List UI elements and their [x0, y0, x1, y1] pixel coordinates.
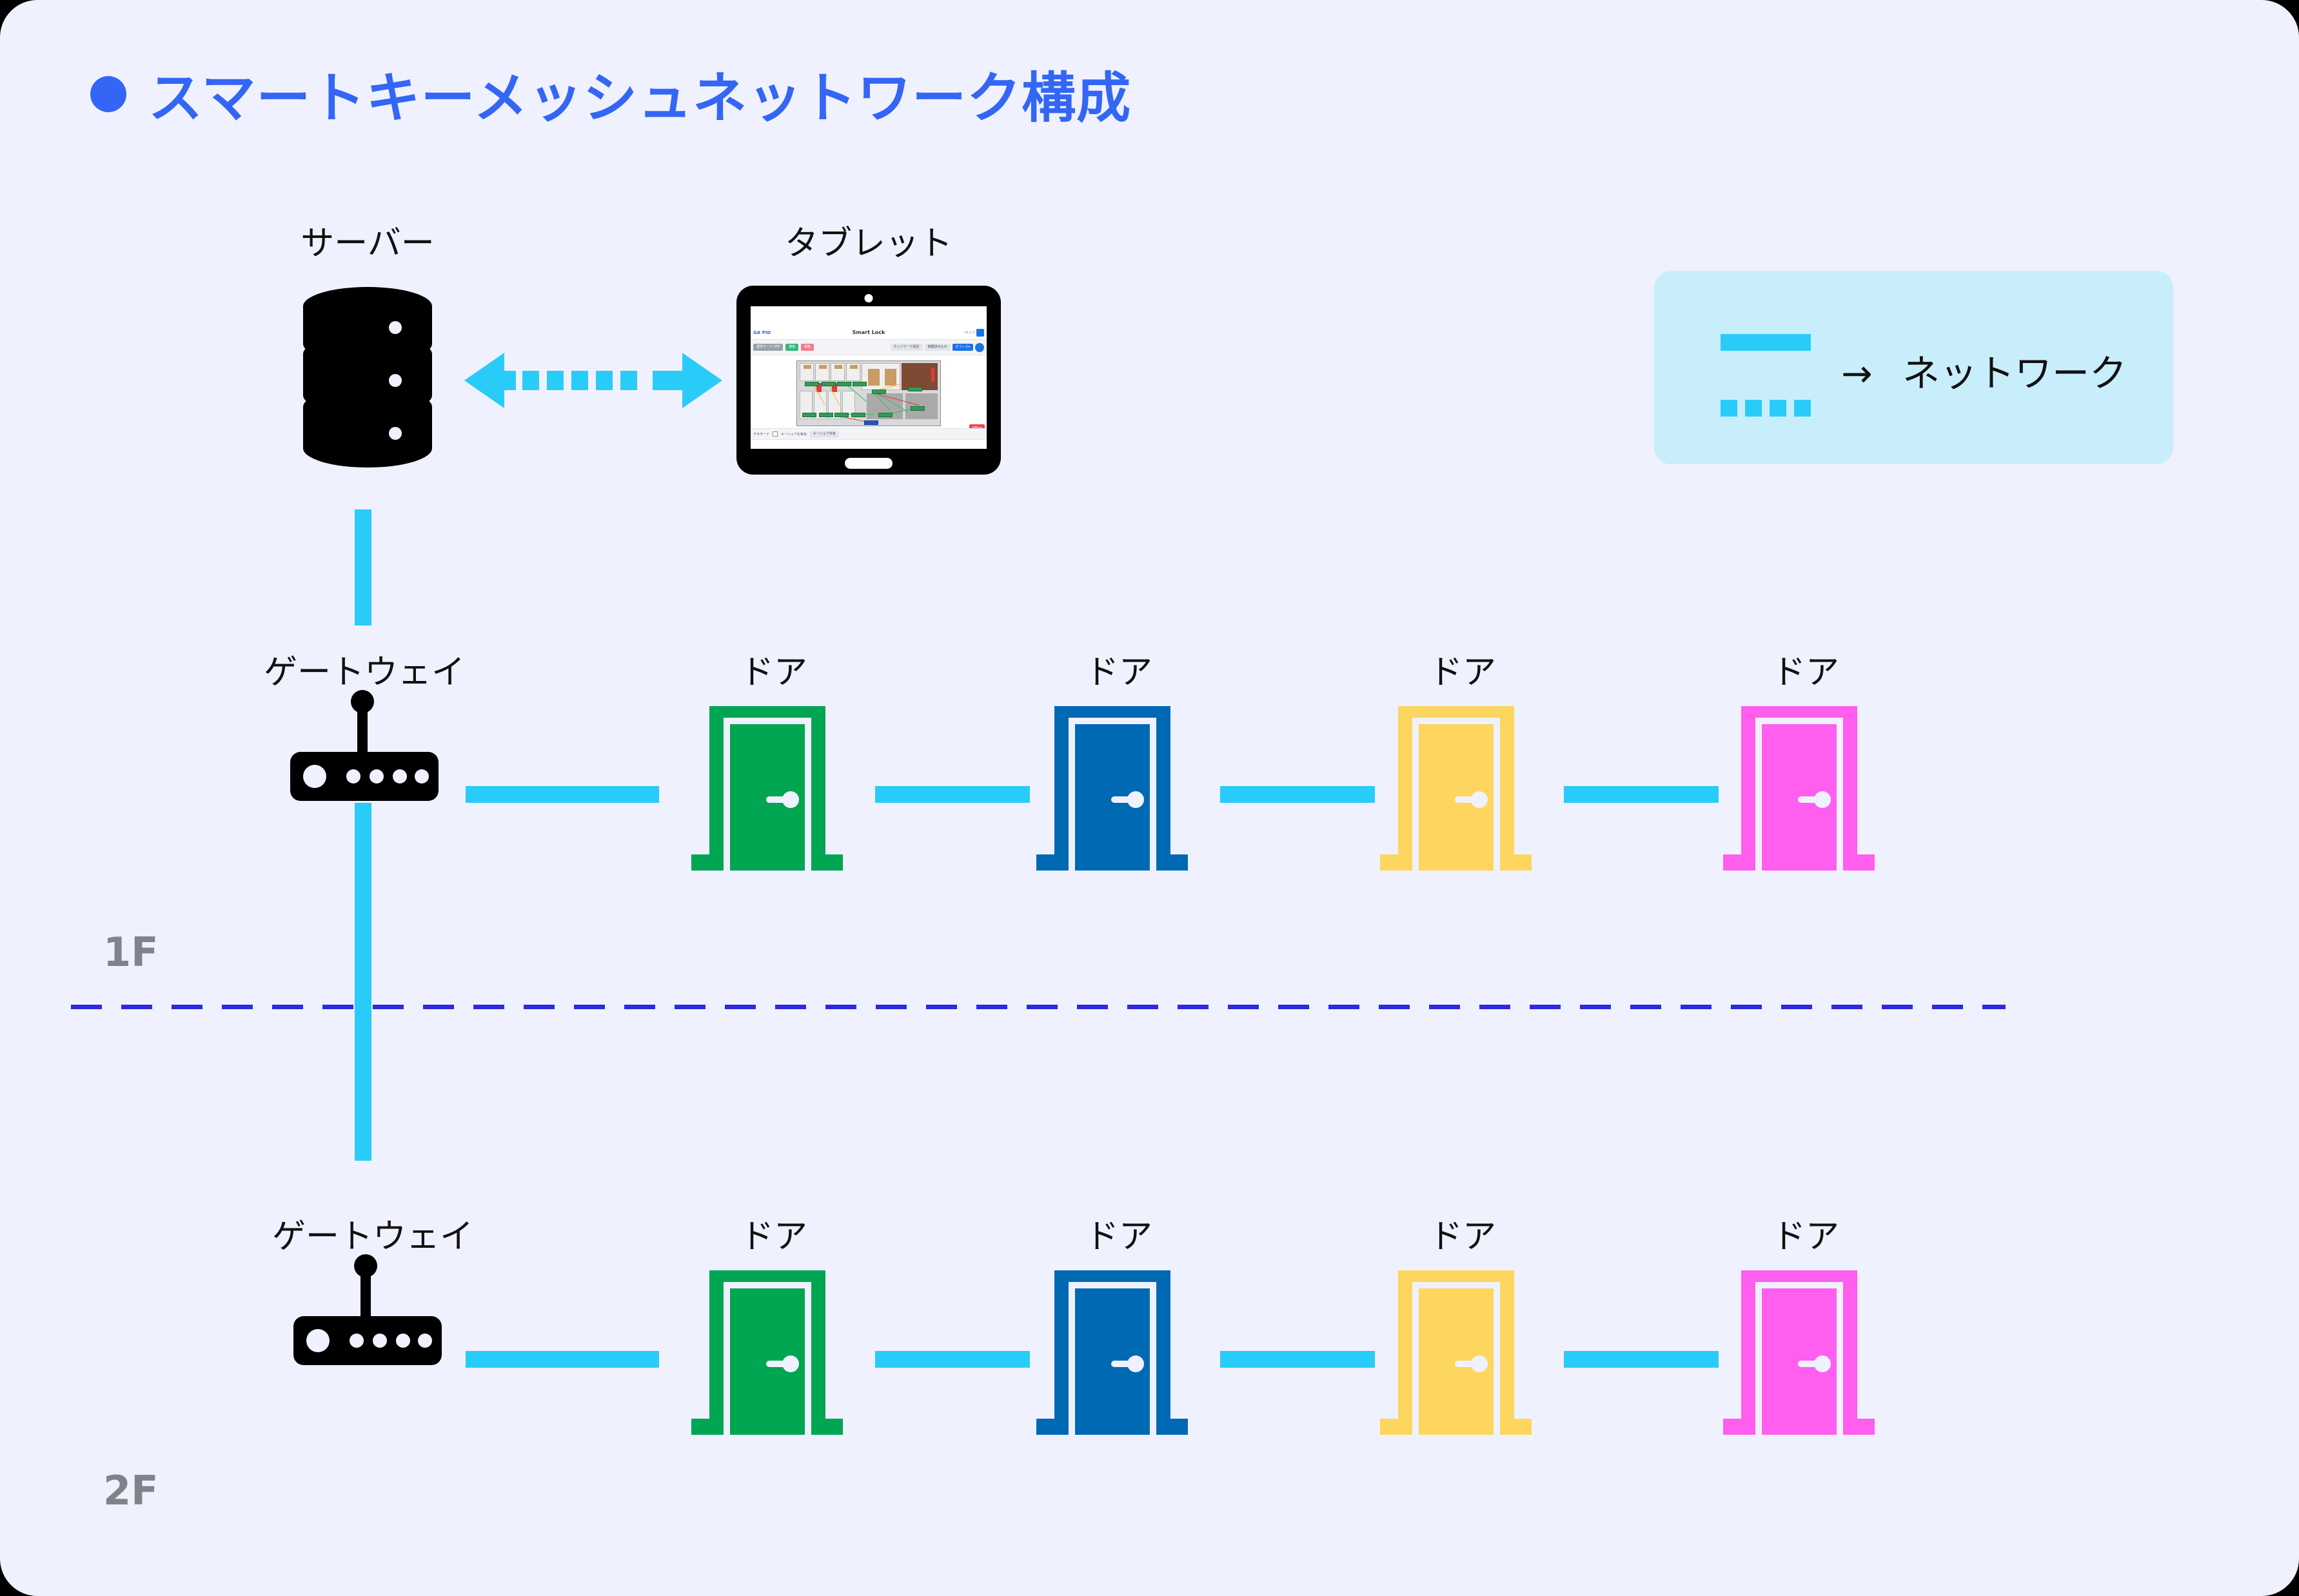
select-mode-button[interactable]: 選択モード OFF [753, 344, 783, 351]
legend-solid-line-swatch [1721, 334, 1811, 351]
door-1f-2-label: ドア [1085, 645, 1152, 693]
door-icon [691, 706, 843, 883]
app-titlebar: GA PID Smart Lock v4.2.3 [751, 326, 987, 340]
door-1f-4-label: ドア [1772, 645, 1839, 693]
keyshare-share-button[interactable]: キーシェア共有 [810, 431, 839, 438]
door-icon [1723, 706, 1875, 883]
bidirectional-dashed-arrow-icon [464, 339, 722, 422]
lock-button[interactable]: 施錠 [785, 344, 798, 351]
site-select-button[interactable]: オフィス▾ [952, 344, 973, 351]
link-door2-to-door3-2f [1220, 1351, 1375, 1368]
router-gateway-icon [290, 690, 439, 813]
door-2f-4-label: ドア [1772, 1209, 1839, 1257]
load-devices-button[interactable]: 機器読み込み [925, 344, 951, 351]
link-door3-to-door4-1f [1564, 786, 1719, 803]
page-title: スマートキーメッシュネットワーク構成 [90, 55, 1131, 133]
tablet-camera-icon [865, 294, 873, 302]
tablet-device-icon: GA PID Smart Lock v4.2.3 選択モード OFF 施錠 解錠… [736, 286, 1001, 475]
gateway-2f-label: ゲートウェイ [272, 1209, 473, 1257]
legend-label: ネットワーク [1902, 355, 2127, 392]
link-server-to-gateway-1f [355, 509, 371, 626]
app-name: Smart Lock [853, 330, 885, 335]
network-settings-button[interactable]: ネットワーク設定 [891, 344, 923, 351]
app-toolbar: 選択モード OFF 施錠 解錠 ネットワーク設定 機器読み込み オフィス▾ [751, 340, 987, 355]
router-gateway-icon [293, 1254, 442, 1377]
door-icon [691, 1270, 843, 1448]
link-gateway-1f-to-gateway-2f [355, 803, 371, 1161]
page-title-text: スマートキーメッシュネットワーク構成 [148, 55, 1131, 133]
demo-mode-label: デモモード [753, 432, 769, 437]
app-bottom-bar: デモモード キーシェアを有効 キーシェア共有 [751, 428, 987, 440]
bullet-dot-icon [90, 76, 126, 112]
link-door1-to-door2-2f [875, 1351, 1030, 1368]
gateway-1f-label: ゲートウェイ [264, 645, 465, 693]
door-icon [1036, 1270, 1188, 1448]
app-brand: GA PID [753, 330, 771, 335]
door-1f-1-label: ドア [740, 645, 807, 693]
tablet-home-button[interactable] [845, 458, 893, 469]
floor-tag-2f: 2F [103, 1467, 159, 1514]
diagram-canvas: スマートキーメッシュネットワーク構成 サーバー タブレット GA PID Sma… [0, 0, 2299, 1596]
door-icon [1380, 1270, 1532, 1448]
link-door3-to-door4-2f [1564, 1351, 1719, 1368]
settings-gear-icon[interactable] [975, 343, 984, 352]
keyshare-enable-label: キーシェアを有効 [781, 432, 807, 437]
link-door1-to-door2-1f [875, 786, 1030, 803]
door-icon [1723, 1270, 1875, 1448]
server-label: サーバー [301, 216, 434, 264]
door-2f-1-label: ドア [740, 1209, 807, 1257]
door-2f-3-label: ドア [1429, 1209, 1496, 1257]
gear-icon[interactable] [976, 329, 984, 337]
app-version: v4.2.3 [964, 331, 974, 335]
legend-arrow-icon: → [1841, 355, 1873, 392]
floor-divider [71, 1005, 2006, 1009]
floorplan-map[interactable] [796, 360, 941, 426]
link-gateway-to-door1-2f [466, 1351, 659, 1368]
legend-dashed-line-swatch [1721, 400, 1811, 417]
keyshare-checkbox[interactable] [773, 431, 778, 437]
door-2f-2-label: ドア [1085, 1209, 1152, 1257]
link-door2-to-door3-1f [1220, 786, 1375, 803]
door-1f-3-label: ドア [1429, 645, 1496, 693]
door-icon [1380, 706, 1532, 883]
floor-tag-1f: 1F [103, 929, 159, 976]
legend-box: → ネットワーク [1654, 271, 2173, 464]
tablet-label: タブレット [785, 216, 952, 264]
tablet-screen: GA PID Smart Lock v4.2.3 選択モード OFF 施錠 解錠… [751, 306, 987, 449]
door-icon [1036, 706, 1188, 883]
database-server-icon [303, 287, 432, 471]
link-gateway-to-door1-1f [466, 786, 659, 803]
unlock-button[interactable]: 解錠 [801, 344, 814, 351]
